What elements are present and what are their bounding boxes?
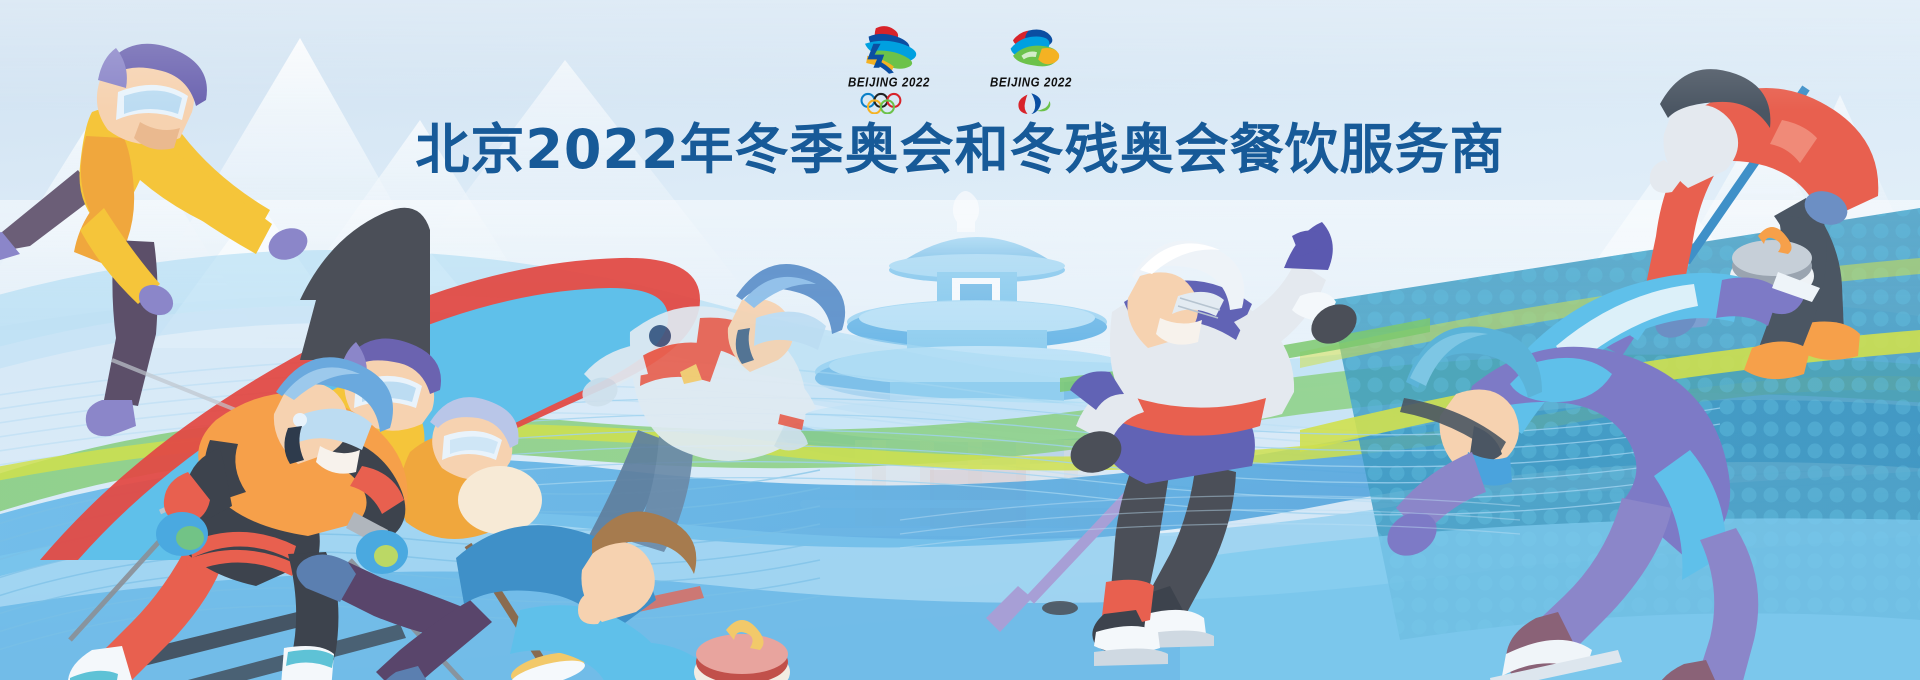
beijing-2022-olympic-emblem-mark xyxy=(853,22,925,74)
paralympic-wordmark: BEIJING 2022 xyxy=(990,76,1072,89)
paralympic-agitos xyxy=(999,92,1064,114)
emblem-row: BEIJING 2022 BEIJING 20 xyxy=(0,22,1920,114)
olympic-wordmark: BEIJING 2022 xyxy=(848,76,930,89)
olympic-rings xyxy=(857,92,922,114)
beijing-2022-banner: BEIJING 2022 BEIJING 20 xyxy=(0,0,1920,680)
paralympic-emblem: BEIJING 2022 xyxy=(985,22,1077,114)
page-title: 北京2022年冬季奥会和冬残奥会餐饮服务商 xyxy=(0,122,1920,179)
beijing-2022-paralympic-emblem-mark xyxy=(995,22,1067,74)
olympic-emblem: BEIJING 2022 xyxy=(843,22,935,114)
